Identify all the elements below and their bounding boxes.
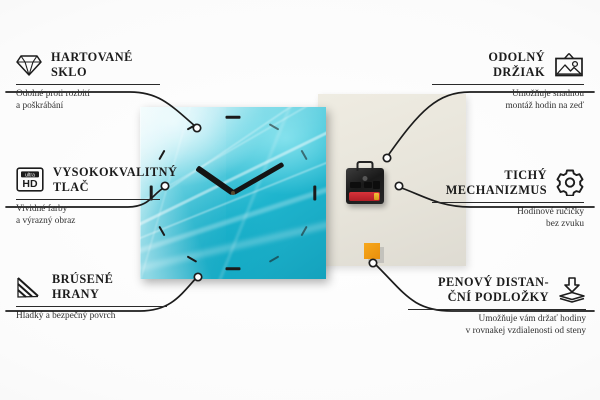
feature-hardened-glass: HARTOVANÉ SKLO Odolné proti rozbití a po…	[16, 50, 166, 112]
feature-heading: PENOVÝ DISTAN- ČNÍ PODLOŽKY	[402, 275, 586, 304]
feature-heading: ODOLNÝ DRŽIAK	[426, 50, 584, 79]
feature-desc-line1: Umožňuje vám držať hodiny	[402, 314, 586, 325]
feature-divider	[16, 84, 160, 85]
feature-divider	[16, 199, 160, 200]
feature-silent-mechanism: TICHÝ MECHANIZMUS Hodinové ručičky bez z…	[426, 168, 584, 230]
connector-node-left-1	[193, 124, 200, 131]
diamond-icon	[16, 53, 42, 77]
feature-foam-spacers: PENOVÝ DISTAN- ČNÍ PODLOŽKY Umožňuje vám…	[402, 275, 586, 337]
feature-desc-line2: bez zvuku	[426, 219, 584, 230]
feature-desc-line2: v rovnakej vzdialenosti od steny	[402, 326, 586, 337]
feature-heading: HARTOVANÉ SKLO	[16, 50, 166, 79]
feature-title-line2: HRANY	[52, 287, 113, 302]
feature-desc-line2: montáž hodin na zeď	[426, 101, 584, 112]
feature-desc-line1: Odolné proti rozbití	[16, 89, 166, 100]
gear-icon	[556, 169, 584, 196]
feature-title-line2: DRŽIAK	[488, 65, 545, 80]
connector-node-right-3	[369, 259, 376, 266]
infographic-canvas: HARTOVANÉ SKLO Odolné proti rozbití a po…	[0, 0, 600, 400]
feature-divider	[408, 309, 586, 310]
feature-title-line1: TICHÝ	[446, 168, 547, 183]
feature-desc-line1: Hladký a bezpečný povrch	[16, 311, 176, 322]
feature-title-line1: ODOLNÝ	[488, 50, 545, 65]
feature-desc-line2: a výrazný obraz	[16, 216, 166, 227]
connector-node-right-1	[383, 154, 390, 161]
feature-title-line2: SKLO	[51, 65, 133, 80]
svg-text:HD: HD	[22, 178, 38, 190]
feature-title-line1: VYSOKOKVALITNÝ	[53, 165, 177, 180]
feature-desc-line2: a poškrábání	[16, 101, 166, 112]
foam-pad-stack-icon	[558, 277, 586, 303]
feature-divider	[432, 202, 584, 203]
feature-title-line2: TLAČ	[53, 180, 177, 195]
feature-desc-line1: Umožňuje snadnou	[426, 89, 584, 100]
sanded-edges-icon	[16, 275, 43, 299]
feature-divider	[432, 84, 584, 85]
feature-title-line1: BRÚSENÉ	[52, 272, 113, 287]
connector-node-left-3	[194, 273, 201, 280]
feature-divider	[16, 306, 167, 307]
picture-hanger-icon	[554, 52, 584, 77]
feature-title-line1: HARTOVANÉ	[51, 50, 133, 65]
feature-durable-hanger: ODOLNÝ DRŽIAK Umožňuje snadnou montáž ho…	[426, 50, 584, 112]
feature-heading: ultra HD VYSOKOKVALITNÝ TLAČ	[16, 165, 166, 194]
feature-desc-line1: Vividné farby	[16, 204, 166, 215]
feature-high-quality-print: ultra HD VYSOKOKVALITNÝ TLAČ Vividné far…	[16, 165, 166, 227]
feature-title-line1: PENOVÝ DISTAN-	[438, 275, 549, 290]
feature-heading: TICHÝ MECHANIZMUS	[426, 168, 584, 197]
connector-node-right-2	[395, 182, 402, 189]
feature-sanded-edges: BRÚSENÉ HRANY Hladký a bezpečný povrch	[16, 272, 176, 323]
feature-title-line2: MECHANIZMUS	[446, 183, 547, 198]
ultra-hd-badge-icon: ultra HD	[16, 167, 44, 192]
feature-heading: BRÚSENÉ HRANY	[16, 272, 176, 301]
feature-desc-line1: Hodinové ručičky	[426, 207, 584, 218]
feature-title-line2: ČNÍ PODLOŽKY	[438, 290, 549, 305]
